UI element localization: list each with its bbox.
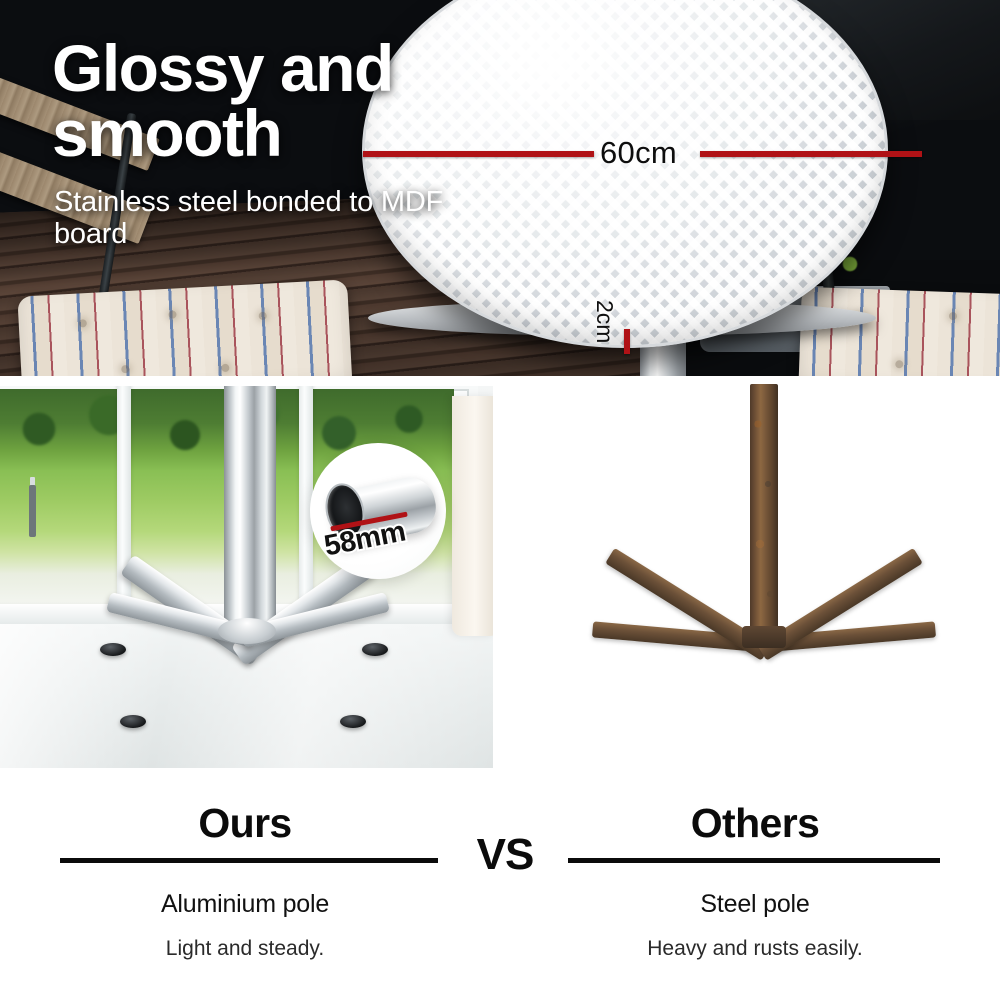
ours-title: Ours xyxy=(95,800,395,847)
hero-title: Glossy and smooth xyxy=(52,36,482,165)
pole-diameter-callout: 58mm xyxy=(310,443,446,579)
others-subtitle: Steel pole xyxy=(605,890,905,919)
diameter-label: 60cm xyxy=(600,135,677,171)
comparison-photo-row xyxy=(0,386,1000,768)
vs-label: VS xyxy=(455,830,555,880)
divider-rule-left xyxy=(60,858,438,863)
ours-subtitle: Aluminium pole xyxy=(95,890,395,919)
others-title: Others xyxy=(605,800,905,847)
window-mullion-1 xyxy=(117,386,131,619)
thickness-label: 2cm xyxy=(591,300,618,343)
ours-vs-others-section: Ours Others VS Aluminium pole Steel pole… xyxy=(0,780,1000,1000)
ours-note: Light and steady. xyxy=(95,937,395,961)
steel-base-photo xyxy=(520,386,1000,768)
thickness-rule xyxy=(624,329,630,354)
base-foot-1 xyxy=(100,643,126,656)
product-infographic: 60cm 2cm Glossy and smooth Stainless ste… xyxy=(0,0,1000,1000)
rusty-steel-pole xyxy=(750,384,778,634)
base-foot-2 xyxy=(362,643,388,656)
hero-photo-panel: 60cm 2cm Glossy and smooth Stainless ste… xyxy=(0,0,1000,376)
base-foot-3 xyxy=(120,715,146,728)
curtain xyxy=(452,396,493,636)
rusty-base-hub xyxy=(742,626,786,648)
striped-cushion-right xyxy=(798,287,1000,376)
hero-subtitle: Stainless steel bonded to MDF board xyxy=(54,186,484,251)
divider-rule-right xyxy=(568,858,940,863)
aluminium-pole xyxy=(224,386,276,640)
striped-cushion-left xyxy=(17,279,352,376)
base-hub xyxy=(218,618,276,644)
diameter-rule-right xyxy=(700,151,922,157)
others-note: Heavy and rusts easily. xyxy=(605,937,905,961)
base-foot-4 xyxy=(340,715,366,728)
aluminium-base-photo xyxy=(0,386,493,768)
aluminium-cross-base xyxy=(92,618,402,738)
